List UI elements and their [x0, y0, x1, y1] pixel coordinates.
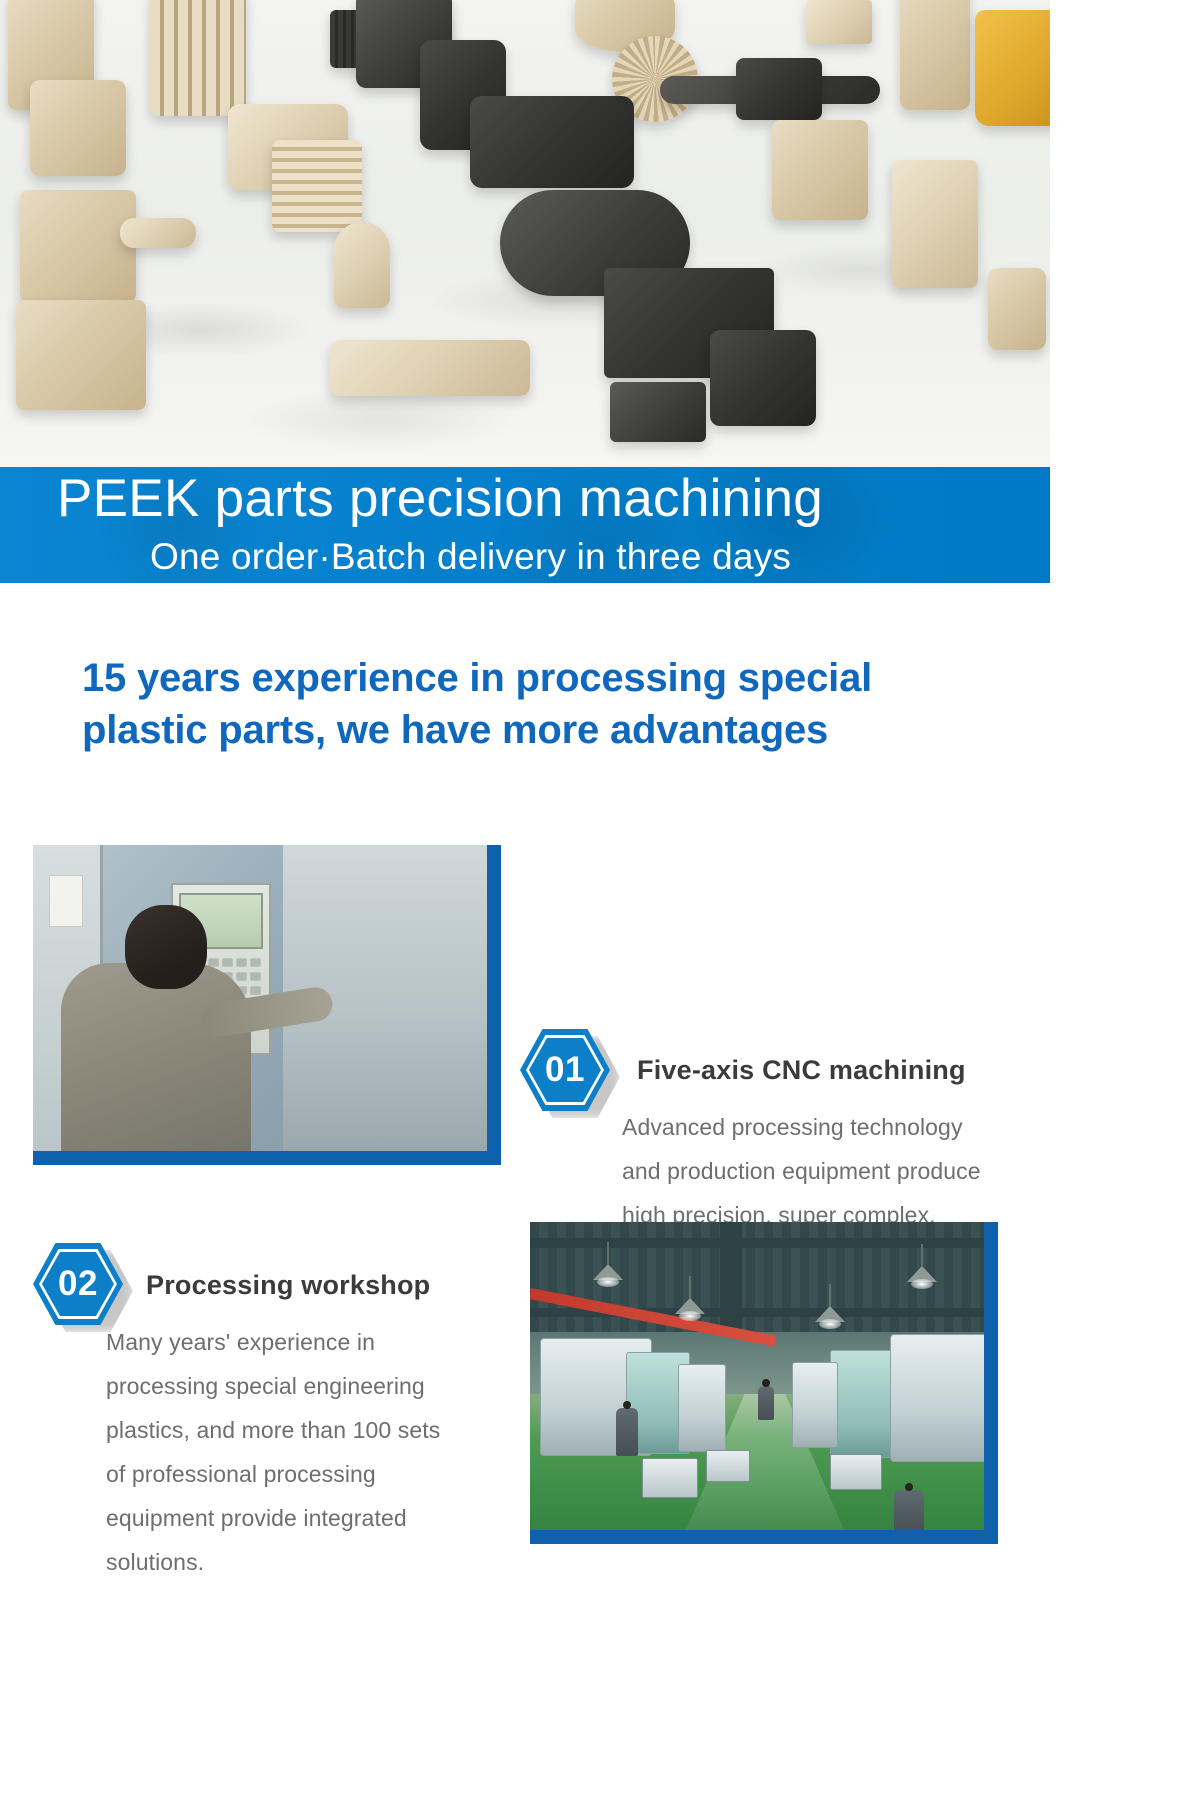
- workshop-machine-left-3: [678, 1364, 726, 1452]
- lamp-glow: [597, 1277, 619, 1287]
- workshop-cart-1: [642, 1458, 698, 1498]
- feature-01-title: Five-axis CNC machining: [637, 1055, 966, 1086]
- part-spool-mid: [30, 80, 126, 176]
- part-cone-tip: [334, 222, 390, 308]
- lamp-glow: [911, 1279, 933, 1289]
- feature-01-photo: [33, 845, 501, 1165]
- feature-01-body-line-2: and production equipment produce: [622, 1149, 1042, 1193]
- lamp-rod: [829, 1284, 831, 1306]
- feature-02-badge-number: 02: [33, 1243, 123, 1325]
- part-drilled-bar: [330, 340, 530, 396]
- part-manifold: [470, 96, 634, 188]
- part-socket-cylinder: [710, 330, 816, 426]
- section-heading-line-2: plastic parts, we have more advantages: [82, 704, 1042, 756]
- feature-02-title: Processing workshop: [146, 1270, 430, 1301]
- feature-02-body-line-2: processing special engineering: [106, 1364, 516, 1408]
- operator-head: [125, 905, 207, 989]
- workshop-beam-1: [530, 1238, 998, 1248]
- workshop-worker-3: [894, 1490, 924, 1534]
- section-heading: 15 years experience in processing specia…: [82, 652, 1042, 756]
- banner-subtitle: One order·Batch delivery in three days: [150, 533, 1050, 581]
- part-step-sleeve: [892, 160, 978, 288]
- lamp-glow: [819, 1319, 841, 1329]
- feature-02-body-line-6: solutions.: [106, 1540, 516, 1584]
- workshop-worker-2: [758, 1386, 774, 1420]
- feature-02-body-line-5: equipment provide integrated: [106, 1496, 516, 1540]
- part-nozzle-arm: [120, 218, 196, 248]
- feature-02-photo-border-bottom: [530, 1530, 998, 1544]
- hero-product-photo: [0, 0, 1050, 470]
- workshop-cart-3: [830, 1454, 882, 1490]
- feature-02-body: Many years' experience in processing spe…: [106, 1320, 516, 1584]
- part-valve-body: [20, 190, 136, 302]
- workshop-machine-right-2: [890, 1334, 998, 1462]
- cnc-scene: [33, 845, 501, 1165]
- feature-02-photo: [530, 1222, 998, 1544]
- part-ribbed-sleeve: [272, 140, 362, 232]
- feature-02-photo-border-right: [984, 1222, 998, 1544]
- feature-02-body-line-1: Many years' experience in: [106, 1320, 516, 1364]
- feature-02-body-line-4: of professional processing: [106, 1452, 516, 1496]
- product-detail-page: PEEK parts precision machining One order…: [0, 0, 1200, 1796]
- part-small-plug: [988, 268, 1046, 350]
- part-wedge: [610, 382, 706, 442]
- lamp-glow: [679, 1311, 701, 1321]
- cnc-sticker-1: [49, 875, 83, 927]
- lamp-rod: [689, 1276, 691, 1298]
- feature-01-photo-inner: [33, 845, 501, 1165]
- feature-01-body-line-1: Advanced processing technology: [622, 1105, 1042, 1149]
- feature-01-badge: 01: [520, 1029, 610, 1111]
- feature-02-badge: 02: [33, 1243, 123, 1325]
- lamp-rod: [921, 1244, 923, 1266]
- lamp-rod: [607, 1242, 609, 1264]
- feature-01-badge-number: 01: [520, 1029, 610, 1111]
- operator-body: [61, 963, 251, 1165]
- part-amber-cup: [975, 10, 1050, 126]
- workshop-cart-2: [706, 1450, 750, 1482]
- feature-01-photo-border-right: [487, 845, 501, 1165]
- part-block-left: [806, 0, 872, 44]
- part-cage: [150, 0, 246, 116]
- section-heading-line-1: 15 years experience in processing specia…: [82, 652, 1042, 704]
- banner-title: PEEK parts precision machining: [57, 467, 1037, 535]
- feature-02-photo-inner: [530, 1222, 998, 1544]
- part-bracket-bottomleft: [16, 300, 146, 410]
- part-roller-hub: [736, 58, 822, 120]
- part-flange-sleeve-topright: [900, 0, 970, 110]
- workshop-machine-right-3: [792, 1362, 838, 1448]
- workshop-scene: [530, 1222, 998, 1544]
- feature-02-body-line-3: plastics, and more than 100 sets: [106, 1408, 516, 1452]
- feature-01-photo-border-bottom: [33, 1151, 501, 1165]
- workshop-worker-1: [616, 1408, 638, 1456]
- hero-banner: PEEK parts precision machining One order…: [0, 467, 1050, 583]
- part-bushing-flanged: [772, 120, 868, 220]
